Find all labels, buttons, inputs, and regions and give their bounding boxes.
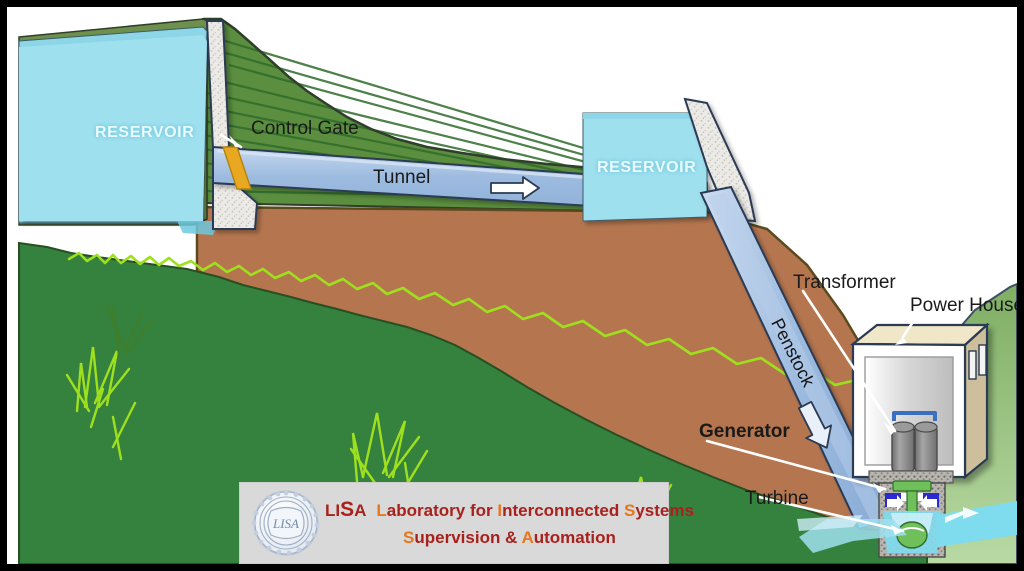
power-house-label: Power House: [910, 296, 1024, 315]
transformer-label: Transformer: [793, 273, 896, 292]
lisa-mark-text: LISA: [272, 516, 299, 531]
control-gate-label: Control Gate: [251, 119, 359, 138]
diagram-frame: RESERVOIR RESERVOIR Control Gate Tunnel …: [0, 0, 1024, 571]
lisa-logo-text: LISALaboratory for Interconnected System…: [325, 495, 708, 550]
tunnel-label: Tunnel: [373, 168, 430, 187]
lisa-logo-mark: LISA: [247, 487, 325, 559]
diagram-stage: RESERVOIR RESERVOIR Control Gate Tunnel …: [7, 7, 1017, 564]
generator-label: Generator: [699, 422, 790, 441]
reservoir-forebay-label: RESERVOIR: [597, 159, 696, 177]
lisa-logo-panel: LISA LISALaboratory for Interconnected S…: [239, 482, 669, 564]
reservoir-upper-label: RESERVOIR: [95, 124, 194, 142]
lisa-logo-line-1: LISALaboratory for Interconnected System…: [325, 495, 694, 525]
turbine-label: Turbine: [745, 489, 809, 508]
lisa-logo-line-2: Supervision & Automation: [325, 526, 694, 551]
gear-emblem-icon: LISA: [247, 487, 325, 559]
